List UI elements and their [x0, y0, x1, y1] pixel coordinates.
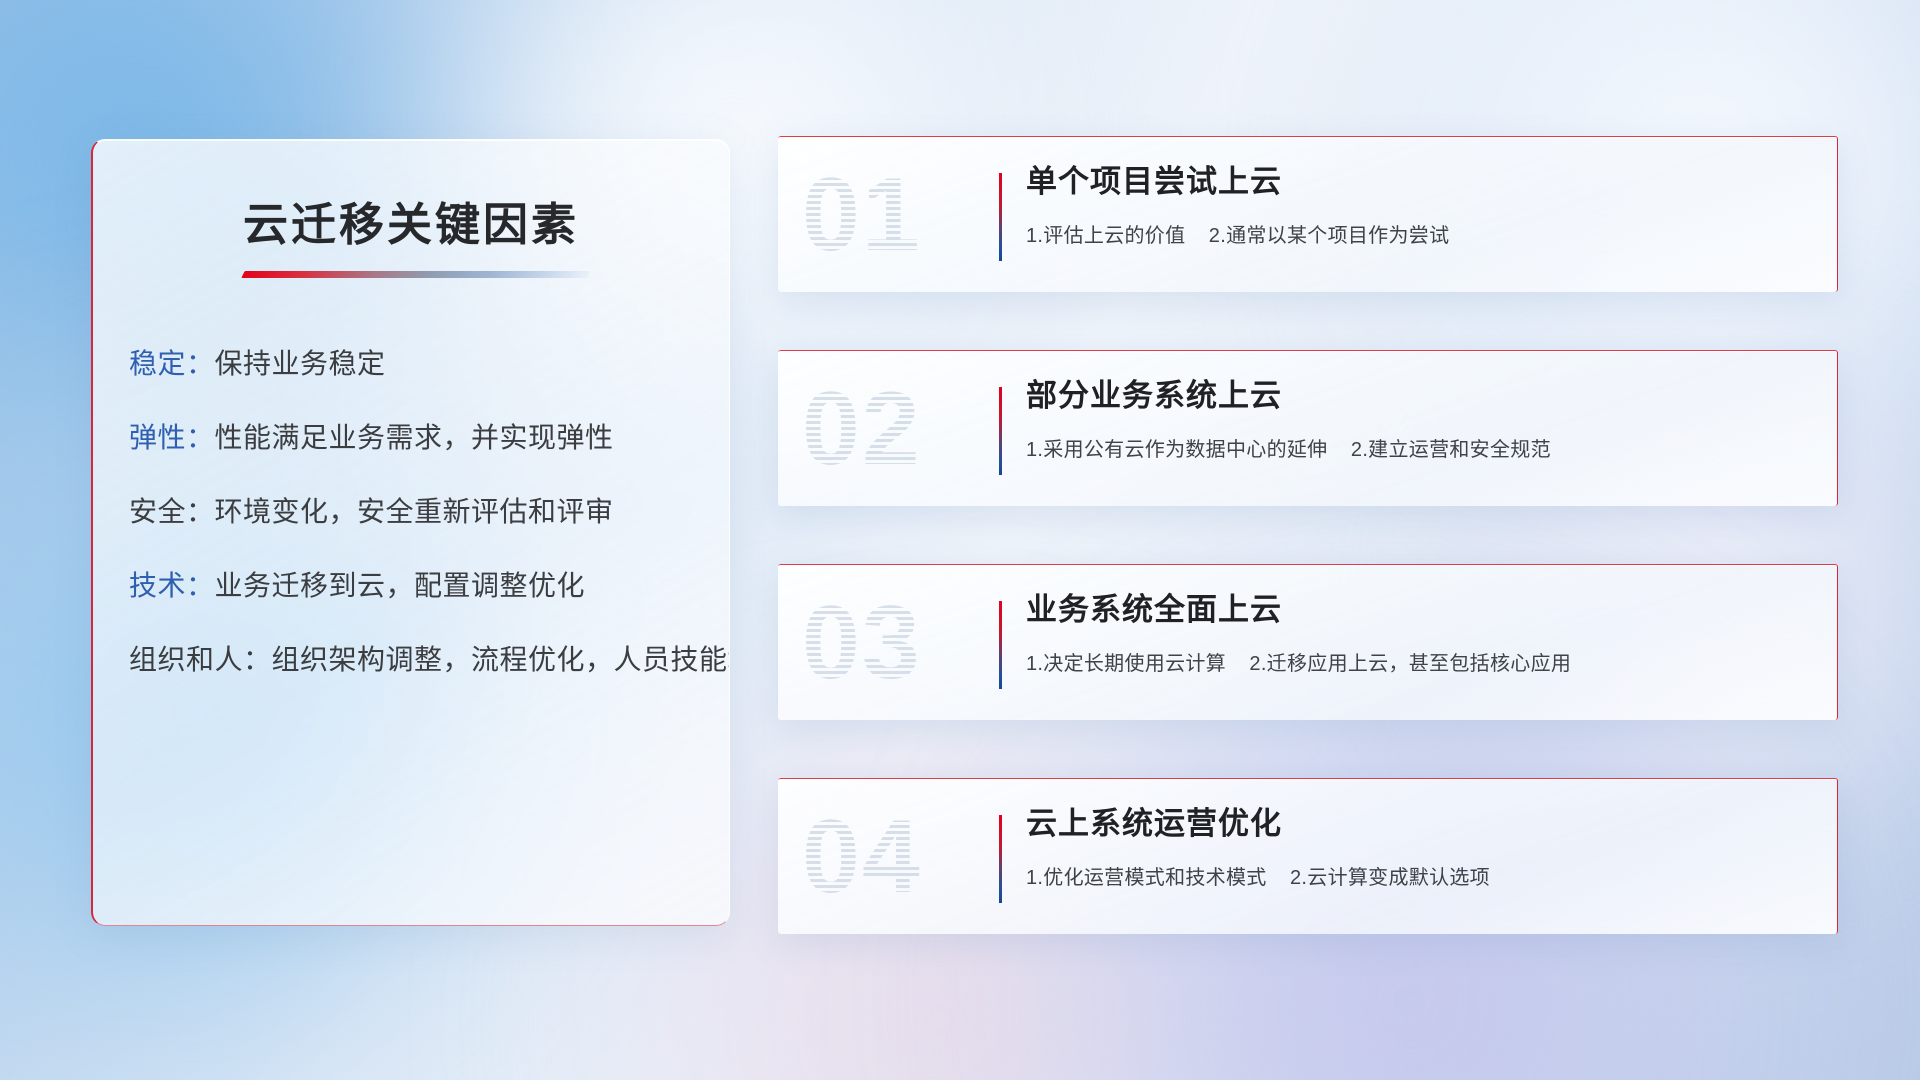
factor-item: 组织和人：组织架构调整，流程优化，人员技能培训	[129, 646, 701, 674]
stage-heading: 业务系统全面上云	[1026, 591, 1807, 630]
stage-number: 04	[802, 795, 978, 919]
stage-number: 03	[802, 581, 978, 705]
title-underline-accent	[241, 271, 590, 278]
stage-divider-accent	[999, 601, 1002, 689]
stage-subtitle: 1.采用公有云作为数据中心的延伸 2.建立运营和安全规范	[1026, 433, 1807, 462]
factor-label: 弹性：	[129, 422, 215, 453]
page-title: 云迁移关键因素	[93, 188, 729, 253]
factor-description: 组织架构调整，流程优化，人员技能培训	[272, 644, 730, 675]
factor-list: 稳定：保持业务稳定弹性：性能满足业务需求，并实现弹性安全：环境变化，安全重新评估…	[129, 350, 701, 720]
stage-number: 01	[802, 153, 978, 277]
stage-heading: 单个项目尝试上云	[1026, 163, 1807, 202]
factor-label: 组织和人：	[129, 644, 272, 675]
stage-divider-accent	[999, 387, 1002, 475]
factor-description: 业务迁移到云，配置调整优化	[215, 570, 586, 601]
factor-item: 稳定：保持业务稳定	[129, 350, 701, 378]
stage-subtitle: 1.优化运营模式和技术模式 2.云计算变成默认选项	[1026, 861, 1807, 890]
stage-card[interactable]: 04云上系统运营优化1.优化运营模式和技术模式 2.云计算变成默认选项	[778, 778, 1838, 934]
factor-label: 技术：	[129, 570, 215, 601]
stage-content: 部分业务系统上云1.采用公有云作为数据中心的延伸 2.建立运营和安全规范	[1026, 377, 1807, 462]
stage-card-list: 01单个项目尝试上云1.评估上云的价值 2.通常以某个项目作为尝试02部分业务系…	[778, 136, 1838, 992]
factor-item: 弹性：性能满足业务需求，并实现弹性	[129, 424, 701, 452]
factor-item: 安全：环境变化，安全重新评估和评审	[129, 498, 701, 526]
stage-card[interactable]: 01单个项目尝试上云1.评估上云的价值 2.通常以某个项目作为尝试	[778, 136, 1838, 292]
factor-label: 安全：	[129, 496, 215, 527]
stage-divider-accent	[999, 173, 1002, 261]
factor-description: 环境变化，安全重新评估和评审	[215, 496, 614, 527]
stage-card[interactable]: 02部分业务系统上云1.采用公有云作为数据中心的延伸 2.建立运营和安全规范	[778, 350, 1838, 506]
factor-description: 性能满足业务需求，并实现弹性	[215, 422, 614, 453]
factor-label: 稳定：	[129, 348, 215, 379]
stage-subtitle: 1.评估上云的价值 2.通常以某个项目作为尝试	[1026, 219, 1807, 248]
stage-subtitle: 1.决定长期使用云计算 2.迁移应用上云，甚至包括核心应用	[1026, 647, 1807, 676]
factor-description: 保持业务稳定	[215, 348, 386, 379]
stage-card[interactable]: 03业务系统全面上云1.决定长期使用云计算 2.迁移应用上云，甚至包括核心应用	[778, 564, 1838, 720]
stage-content: 云上系统运营优化1.优化运营模式和技术模式 2.云计算变成默认选项	[1026, 805, 1807, 890]
factor-item: 技术：业务迁移到云，配置调整优化	[129, 572, 701, 600]
stage-content: 单个项目尝试上云1.评估上云的价值 2.通常以某个项目作为尝试	[1026, 163, 1807, 248]
stage-heading: 部分业务系统上云	[1026, 377, 1807, 416]
stage-number: 02	[802, 367, 978, 491]
stage-divider-accent	[999, 815, 1002, 903]
stage-heading: 云上系统运营优化	[1026, 805, 1807, 844]
stage-content: 业务系统全面上云1.决定长期使用云计算 2.迁移应用上云，甚至包括核心应用	[1026, 591, 1807, 676]
key-factors-panel: 云迁移关键因素 稳定：保持业务稳定弹性：性能满足业务需求，并实现弹性安全：环境变…	[91, 139, 730, 926]
